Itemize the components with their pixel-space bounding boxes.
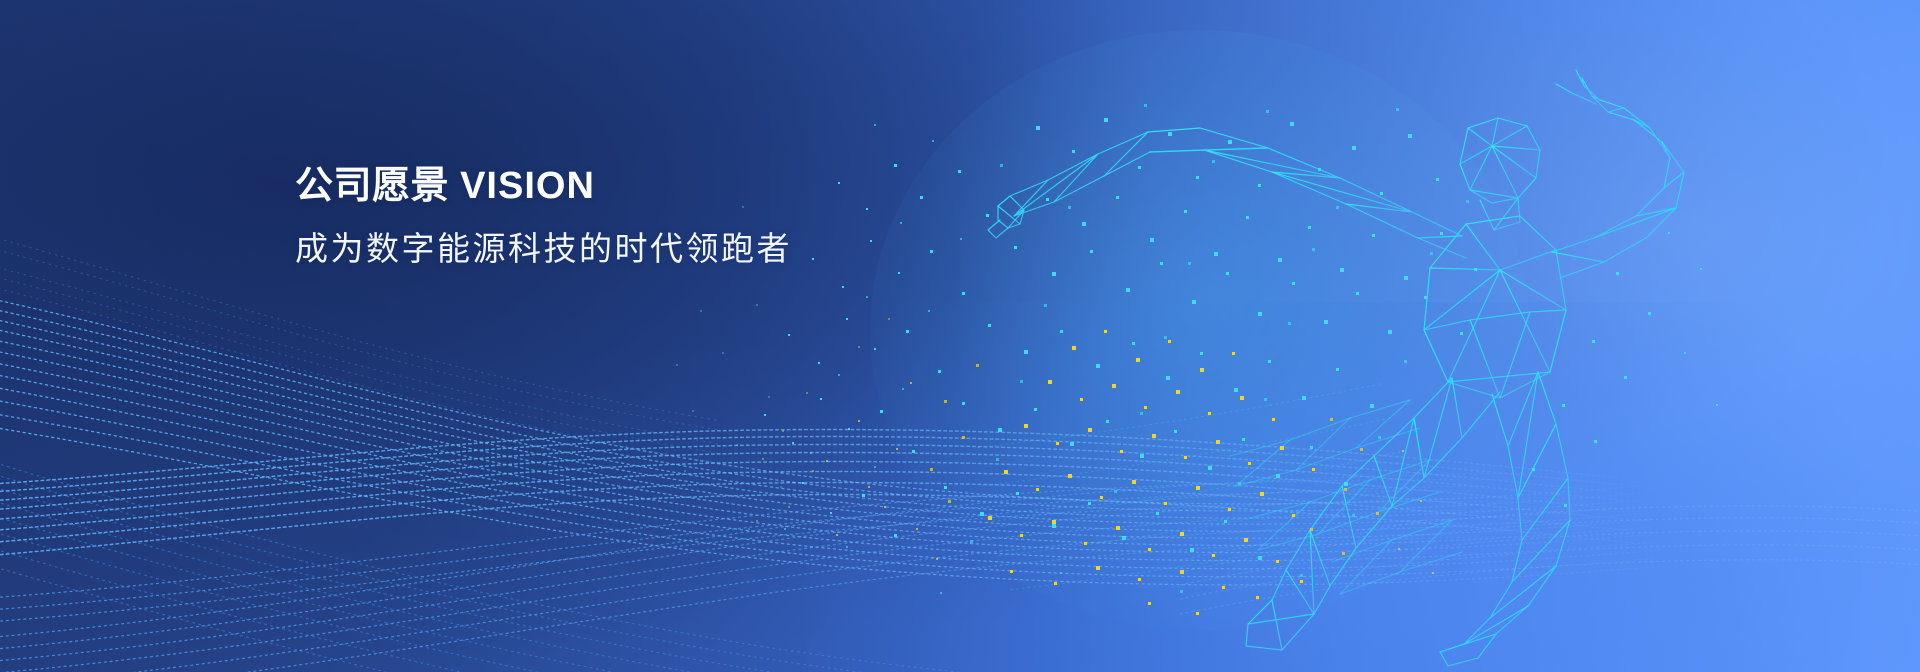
page-title: 公司愿景 VISION [295,166,792,208]
page-title-cn: 公司愿景 [295,165,449,207]
vision-banner: 公司愿景 VISION 成为数字能源科技的时代领跑者 [0,0,1920,672]
vision-text-block: 公司愿景 VISION 成为数字能源科技的时代领跑者 [295,166,792,268]
background-vignette [0,0,1920,672]
page-subtitle: 成为数字能源科技的时代领跑者 [295,230,792,268]
page-title-en: VISION [460,165,595,207]
